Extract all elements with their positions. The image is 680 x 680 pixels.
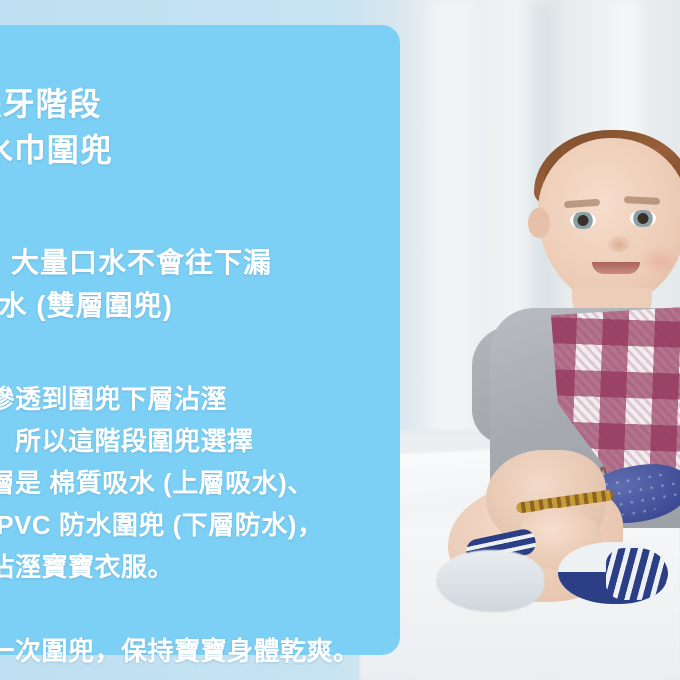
info-panel-content: 第二階段: 開始長牙階段 吸水+防水口水巾圍兜 上層吸水下層防水，大量口水不會往… (0, 25, 400, 655)
baby-eye-right (630, 210, 656, 227)
panel-body-line-6: 若是寶寶大量流口水， (0, 589, 395, 626)
panel-body-line-5: 口水就不會穿透圍兜沾溼寶寶衣服。 (0, 547, 395, 584)
panel-body-line-4: 而圍兜的下層最好有 PVC 防水圍兜 (下層防水)， (0, 505, 395, 542)
panel-body-line-7: 建議家長兩小時更換一次圍兜，保持寶寶身體乾爽。 (0, 631, 395, 668)
panel-subheading-line1: 上層吸水下層防水，大量口水不會往下漏 (0, 241, 395, 281)
panel-heading-line1: 第二階段: 開始長牙階段 (0, 79, 395, 125)
panel-body-line-2: 寶寶衣服十分不舒服，所以這階段圍兜選擇 (0, 421, 395, 458)
panel-subheading-line2: 純棉吸水+ PVC 防水 (雙層圍兜) (0, 284, 403, 324)
baby-mouth (592, 262, 640, 274)
baby-cheek (640, 246, 680, 276)
baby-sock-right (558, 542, 666, 604)
baby-head (538, 138, 680, 303)
baby-ear (528, 208, 550, 238)
info-panel: 第二階段: 開始長牙階段 吸水+防水口水巾圍兜 上層吸水下層防水，大量口水不會往… (0, 25, 400, 655)
panel-body-line-1: 開始長牙，過多口水滲透到圍兜下層沾溼 (0, 379, 395, 416)
baby-nose (606, 234, 632, 252)
panel-body-line-3: 最好是接觸下巴的上層是 棉質吸水 (上層吸水)、 (0, 463, 395, 500)
baby-sock-left (436, 550, 544, 612)
panel-heading-line2: 吸水+防水口水巾圍兜 (0, 125, 441, 171)
baby-eye-left (570, 212, 596, 229)
baby-photo-subject: DRAG (430, 130, 680, 680)
